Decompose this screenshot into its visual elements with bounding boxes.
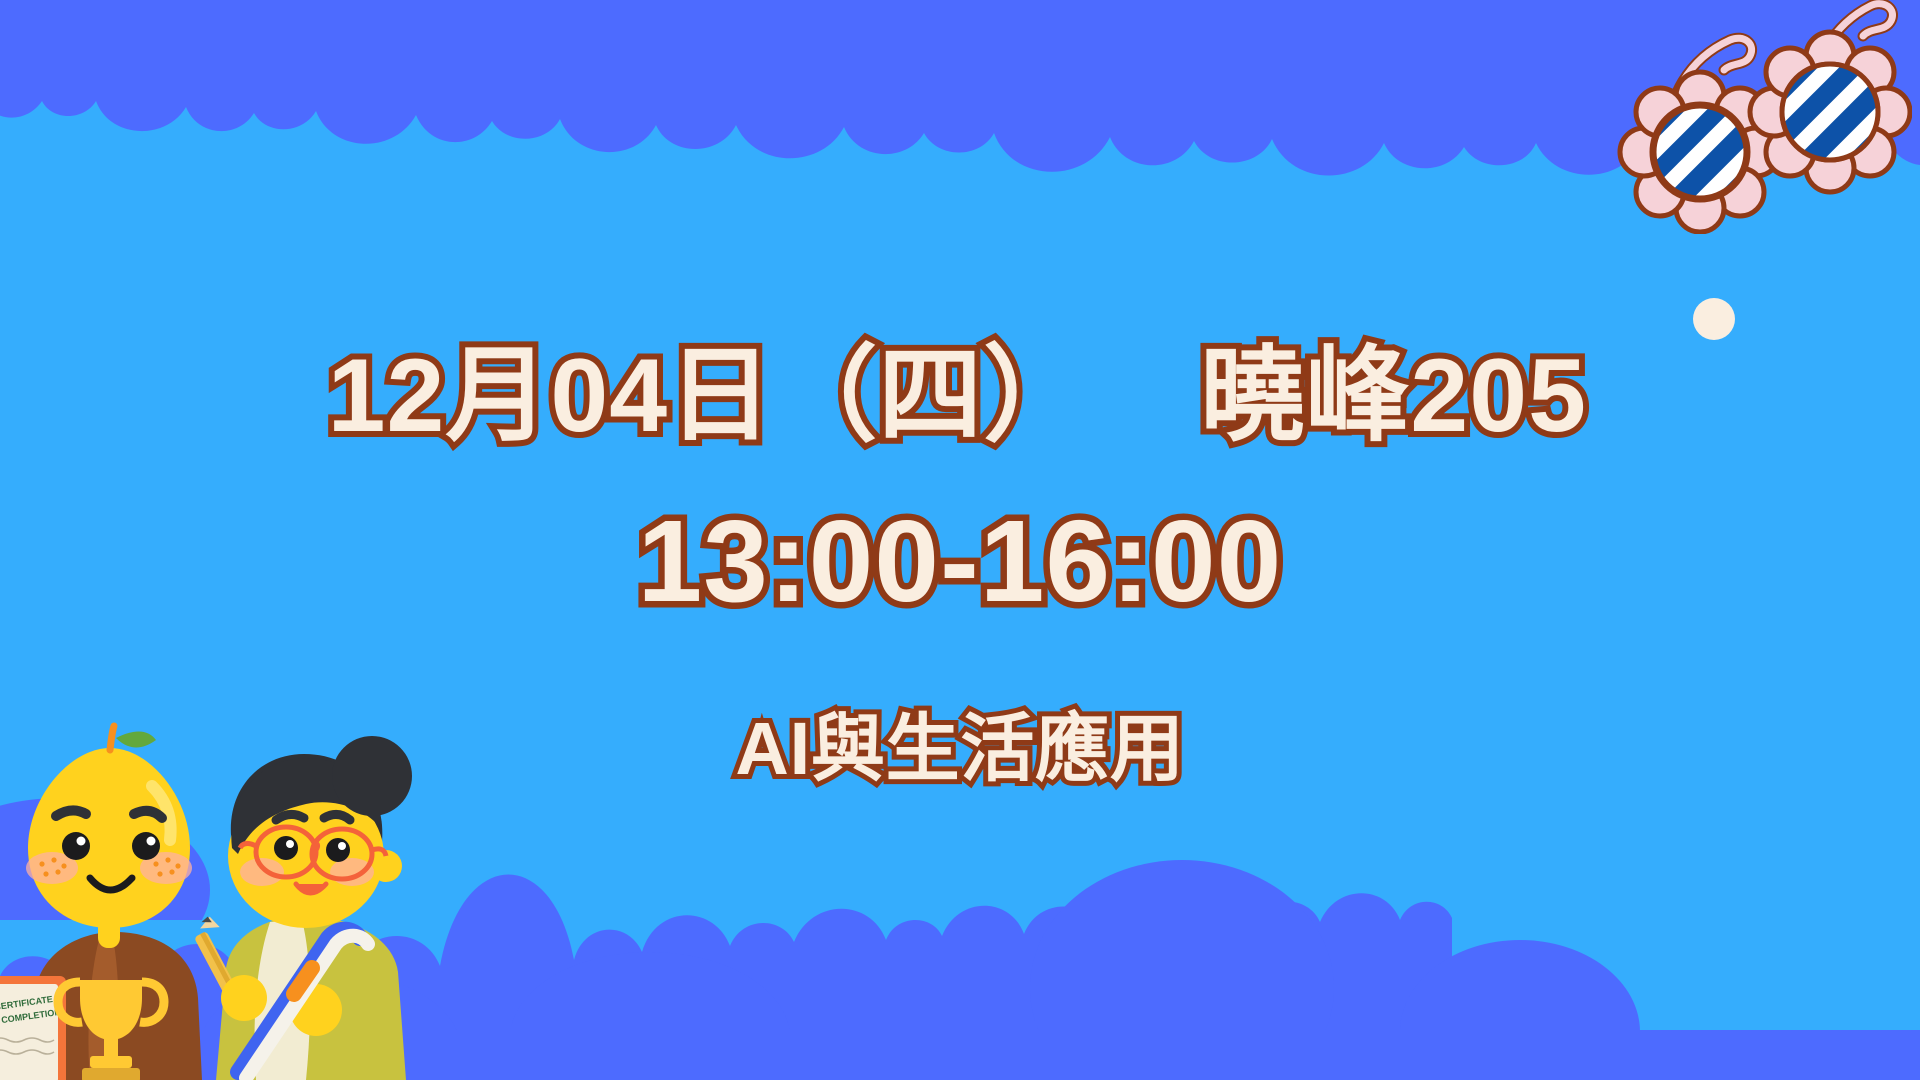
two-lemon-mascots: CERTIFICATE OF COMPLETION bbox=[0, 680, 464, 1080]
slide-canvas: 12月04日（四）曉峰205 13:00-16:00 AI與生活應用 bbox=[0, 0, 1920, 1080]
flower-sunglasses-illustration bbox=[1612, 0, 1912, 234]
cream-dot-decoration bbox=[1693, 298, 1735, 340]
student-mascot: CERTIFICATE OF COMPLETION bbox=[0, 726, 202, 1080]
headline-date: 12月04日（四） bbox=[328, 338, 1089, 454]
headline-room: 曉峰205 bbox=[1200, 338, 1587, 454]
lemon-characters-illustration: CERTIFICATE OF COMPLETION bbox=[0, 680, 464, 1080]
sunglasses-icon bbox=[1612, 0, 1912, 234]
time-range: 13:00-16:00 bbox=[0, 498, 1920, 626]
teacher-mascot bbox=[194, 736, 412, 1080]
